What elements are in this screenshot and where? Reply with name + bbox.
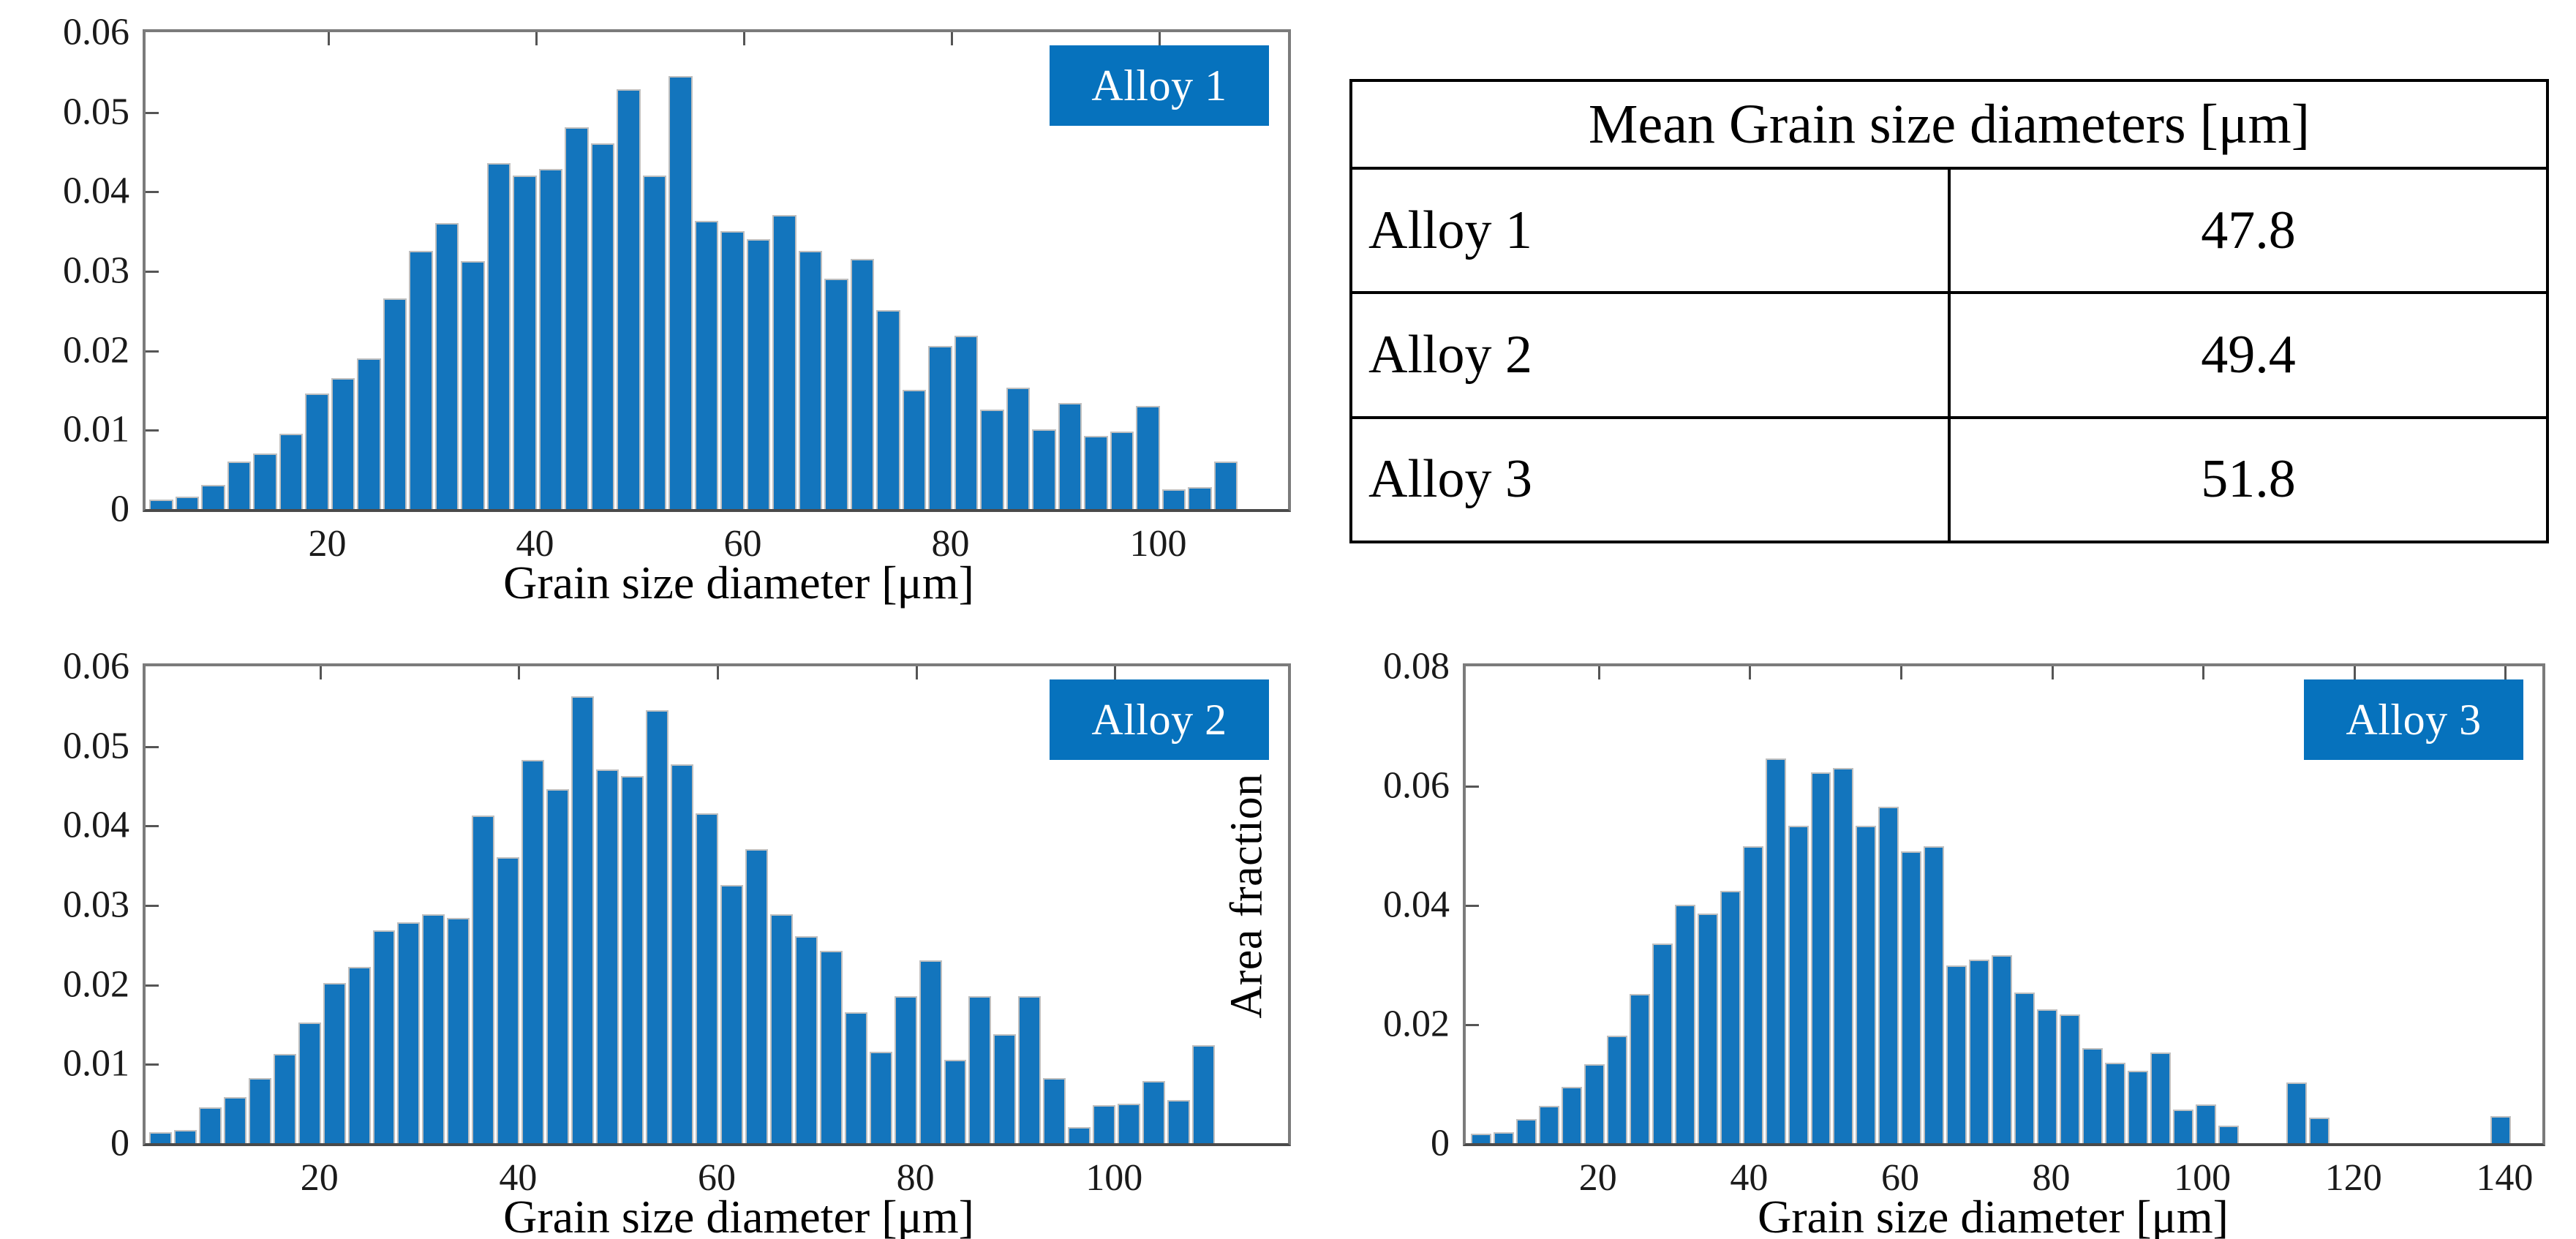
histogram-bar [1698, 914, 1718, 1143]
table-row: Alloy 249.4 [1351, 293, 2547, 417]
histogram-bar [1969, 960, 1989, 1143]
histogram-bar [357, 358, 381, 509]
x-axis-label: Grain size diameter [μm] [95, 556, 1382, 610]
histogram-bar [2014, 993, 2035, 1143]
histogram-bar [2196, 1104, 2216, 1143]
chart-legend-badge-alloy1: Alloy 1 [1050, 45, 1269, 126]
y-tick-mark [146, 905, 159, 907]
y-tick-label: 0.02 [0, 963, 129, 1006]
histogram-bar [383, 298, 407, 509]
table-cell-mean-diameter: 51.8 [1949, 418, 2547, 542]
histogram-bar [2309, 1118, 2330, 1143]
histogram-bar [903, 390, 927, 509]
histogram-bar [1946, 965, 1967, 1143]
histogram-bar [1901, 851, 1921, 1143]
histogram-bar [617, 89, 641, 509]
histogram-bar [1018, 996, 1041, 1143]
x-tick-mark [1900, 666, 1902, 679]
histogram-bar [1856, 826, 1876, 1143]
histogram-bar [695, 221, 719, 509]
y-tick-label: 0.05 [0, 90, 129, 133]
histogram-bar [1043, 1078, 1066, 1143]
table-header-row: Mean Grain size diameters [μm] [1351, 80, 2547, 168]
x-axis-label: Grain size diameter [μm] [1393, 1190, 2576, 1239]
x-tick-mark [1598, 666, 1600, 679]
histogram-bar [772, 215, 796, 509]
chart-panel-alloy1: Area fraction00.010.020.030.040.050.0620… [0, 0, 1320, 702]
histogram-bar [1188, 487, 1212, 509]
histogram-bar [249, 1078, 271, 1143]
x-axis-label: Grain size diameter [μm] [95, 1190, 1382, 1239]
histogram-bar [596, 769, 619, 1143]
histogram-bar [279, 434, 304, 509]
histogram-bar [1607, 1036, 1627, 1143]
mean-grain-size-table: Mean Grain size diameters [μm] Alloy 147… [1349, 79, 2549, 543]
y-tick-label: 0.06 [0, 11, 129, 54]
y-tick-label: 0 [0, 488, 129, 531]
figure-root: Area fraction00.010.020.030.040.050.0620… [0, 0, 2576, 1239]
histogram-bar [770, 914, 793, 1143]
histogram-bar [1093, 1105, 1115, 1143]
histogram-bar [2105, 1063, 2125, 1143]
y-tick-mark [146, 1063, 159, 1066]
table-header-cell: Mean Grain size diameters [μm] [1351, 80, 2547, 168]
histogram-bar [696, 813, 718, 1143]
table-cell-alloy-name: Alloy 1 [1351, 168, 1949, 293]
x-tick-mark [717, 666, 719, 679]
histogram-bar [1068, 1127, 1091, 1143]
y-tick-label: 0.02 [1349, 1003, 1450, 1046]
histogram-bar [1006, 388, 1031, 509]
chart-legend-badge-alloy3: Alloy 3 [2304, 679, 2523, 760]
histogram-bar [993, 1034, 1016, 1143]
histogram-bar [224, 1097, 246, 1143]
histogram-bar [1743, 846, 1763, 1143]
histogram-bar [1516, 1119, 1537, 1143]
table-row: Alloy 147.8 [1351, 168, 2547, 293]
histogram-bar [461, 261, 485, 509]
histogram-bar [487, 163, 511, 509]
histogram-bar [1058, 403, 1082, 509]
histogram-bar [845, 1012, 867, 1143]
histogram-bar [539, 169, 563, 509]
histogram-bar [227, 462, 252, 509]
x-tick-mark [328, 32, 330, 45]
histogram-bar [1924, 846, 1944, 1143]
chart-panel-alloy3: Area fraction00.020.040.060.082040608010… [1349, 633, 2575, 1239]
histogram-bar [1136, 406, 1160, 509]
histogram-bar [2082, 1048, 2103, 1143]
histogram-bar [795, 936, 818, 1143]
histogram-bar [513, 176, 537, 509]
y-tick-label: 0.01 [0, 1042, 129, 1085]
histogram-bar [1630, 994, 1650, 1143]
histogram-bar [1167, 1100, 1190, 1143]
y-tick-mark [146, 112, 159, 114]
x-tick-mark [2052, 666, 2054, 679]
x-tick-mark [320, 666, 322, 679]
y-tick-mark [146, 429, 159, 432]
x-tick-mark [916, 666, 918, 679]
histogram-bar [944, 1060, 967, 1143]
y-tick-label: 0 [1349, 1122, 1450, 1165]
histogram-bar [799, 251, 823, 509]
chart-legend-badge-alloy2: Alloy 2 [1050, 679, 1269, 760]
histogram-bar [1833, 768, 1853, 1143]
histogram-bar [851, 259, 875, 509]
histogram-bar [435, 223, 459, 509]
histogram-bar [646, 710, 669, 1143]
histogram-bar [1162, 489, 1186, 509]
histogram-bar [720, 231, 745, 509]
histogram-bar [1652, 944, 1673, 1143]
histogram-bar [669, 76, 693, 509]
histogram-bar [1494, 1132, 1514, 1143]
y-tick-label: 0.03 [0, 249, 129, 293]
histogram-bar [968, 996, 991, 1143]
histogram-bar [671, 764, 693, 1143]
histogram-bar [1562, 1087, 1582, 1143]
histogram-bar [2173, 1110, 2193, 1143]
histogram-bar [1675, 905, 1695, 1143]
histogram-bar [2128, 1071, 2148, 1143]
histogram-bar [1811, 772, 1831, 1143]
histogram-bar [497, 857, 519, 1143]
y-tick-label: 0.05 [0, 724, 129, 767]
histogram-bar [1788, 826, 1809, 1143]
table-cell-alloy-name: Alloy 3 [1351, 418, 1949, 542]
histogram-bar [980, 410, 1004, 509]
histogram-bar [1110, 432, 1134, 509]
y-tick-label: 0.06 [1349, 764, 1450, 807]
histogram-bar [253, 453, 277, 509]
histogram-bar [643, 176, 667, 509]
y-tick-mark [146, 191, 159, 193]
y-tick-mark [146, 984, 159, 987]
histogram-bar [305, 393, 329, 509]
histogram-bar [928, 346, 952, 509]
table-row: Alloy 351.8 [1351, 418, 2547, 542]
y-tick-label: 0.01 [0, 408, 129, 451]
x-tick-mark [743, 32, 745, 45]
histogram-bar [876, 310, 900, 509]
histogram-bar [745, 849, 768, 1143]
histogram-bar [472, 816, 494, 1143]
histogram-bar [149, 1132, 172, 1143]
y-tick-label: 0 [0, 1122, 129, 1165]
y-tick-mark [146, 746, 159, 748]
histogram-bar [176, 497, 200, 509]
table-cell-alloy-name: Alloy 2 [1351, 293, 1949, 417]
histogram-bar [1992, 955, 2012, 1143]
histogram-bar [591, 143, 615, 509]
histogram-bar [2060, 1014, 2080, 1143]
histogram-bar [2150, 1052, 2171, 1143]
histogram-bar [720, 885, 743, 1143]
histogram-bar [895, 996, 917, 1143]
x-tick-mark [2504, 666, 2507, 679]
x-tick-mark [535, 32, 538, 45]
histogram-bar [571, 696, 594, 1143]
table-cell-mean-diameter: 49.4 [1949, 293, 2547, 417]
table-cell-mean-diameter: 47.8 [1949, 168, 2547, 293]
histogram-bar [1878, 807, 1899, 1143]
histogram-bar [1032, 429, 1056, 509]
x-tick-mark [1749, 666, 1751, 679]
histogram-bar [521, 760, 544, 1143]
histogram-bar [373, 930, 396, 1143]
x-tick-mark [1114, 666, 1116, 679]
histogram-bar [2037, 1009, 2057, 1143]
histogram-bar [1766, 758, 1786, 1143]
histogram-bar [1539, 1106, 1559, 1143]
histogram-bar [1471, 1134, 1491, 1143]
histogram-bar [824, 279, 848, 509]
histogram-bar [546, 789, 569, 1143]
histogram-bar [954, 336, 979, 509]
histogram-bar [447, 918, 470, 1143]
chart-panel-alloy2: Area fraction00.010.020.030.040.050.0620… [0, 633, 1320, 1239]
histogram-bar [820, 951, 843, 1143]
histogram-bar [397, 922, 420, 1143]
y-tick-label: 0.02 [0, 328, 129, 372]
histogram-bar [199, 1107, 222, 1143]
histogram-bar [870, 1052, 892, 1143]
histogram-bar [331, 378, 355, 509]
histogram-bar [2286, 1082, 2307, 1143]
histogram-bar [149, 500, 173, 509]
histogram-bar [565, 127, 589, 509]
histogram-bar [919, 960, 942, 1143]
x-tick-mark [518, 666, 520, 679]
y-tick-label: 0.04 [0, 170, 129, 213]
histogram-bar [2490, 1116, 2511, 1143]
histogram-bar [1192, 1045, 1215, 1143]
y-tick-mark [146, 350, 159, 353]
y-tick-mark [146, 825, 159, 827]
histogram-bar [2218, 1126, 2239, 1143]
histogram-bar [348, 967, 371, 1143]
histogram-bar [1118, 1104, 1140, 1143]
histogram-bar [1584, 1064, 1605, 1143]
histogram-bar [201, 485, 225, 509]
histogram-bar [747, 239, 771, 509]
x-tick-mark [2202, 666, 2204, 679]
histogram-bar [422, 914, 445, 1143]
x-tick-mark [1159, 32, 1161, 45]
histogram-bar [1214, 462, 1238, 509]
y-tick-mark [1466, 905, 1479, 907]
y-tick-label: 0.06 [0, 645, 129, 688]
y-tick-label: 0.04 [1349, 884, 1450, 927]
histogram-bar [298, 1023, 321, 1143]
histogram-bar [274, 1054, 296, 1143]
x-tick-mark [2354, 666, 2356, 679]
histogram-bar [323, 983, 346, 1144]
x-tick-mark [951, 32, 953, 45]
histogram-bar [409, 251, 433, 509]
y-tick-mark [146, 271, 159, 273]
histogram-bar [1720, 891, 1741, 1143]
y-tick-mark [1466, 786, 1479, 788]
histogram-bar [1142, 1081, 1165, 1143]
histogram-bar [621, 776, 644, 1143]
y-tick-label: 0.04 [0, 804, 129, 847]
y-axis-label: Area fraction [1221, 773, 1273, 1018]
histogram-bar [1084, 436, 1108, 509]
y-tick-mark [1466, 1024, 1479, 1026]
y-tick-label: 0.08 [1349, 645, 1450, 688]
y-tick-label: 0.03 [0, 884, 129, 927]
histogram-bar [174, 1130, 197, 1143]
